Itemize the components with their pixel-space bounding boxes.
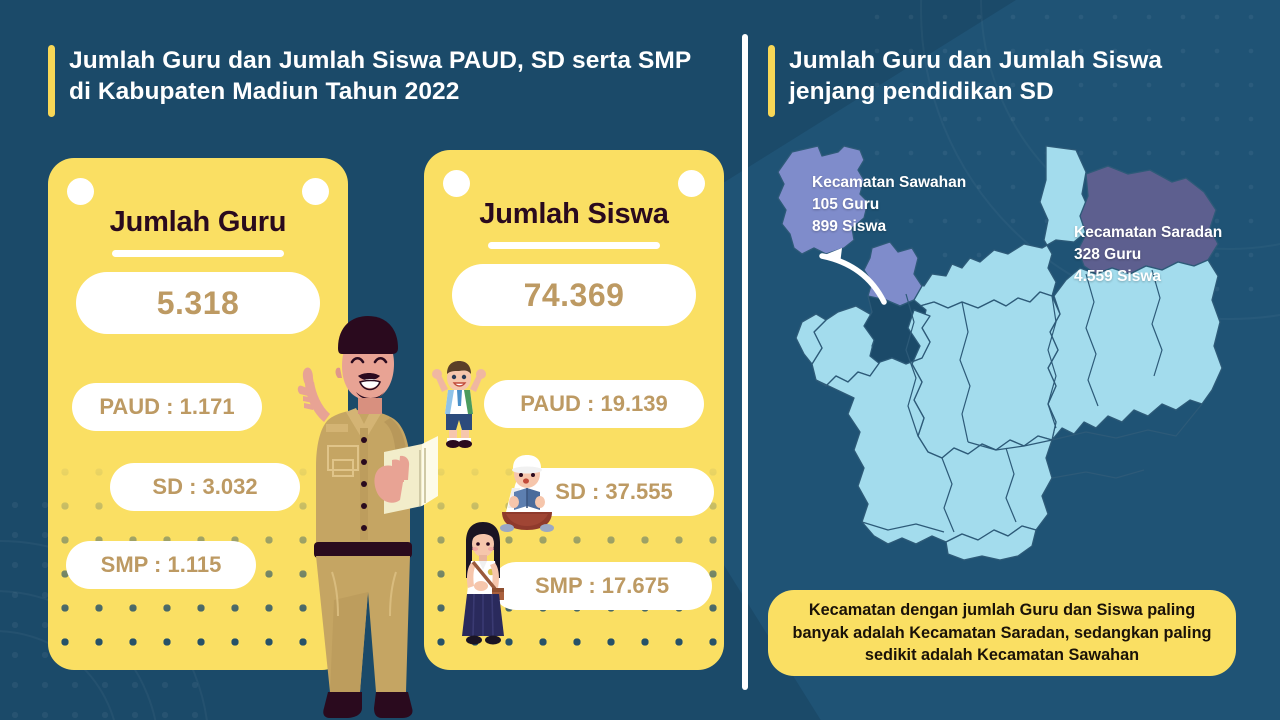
- title-accent-bar: [48, 45, 55, 117]
- callout-saradan-name: Kecamatan Saradan: [1074, 222, 1222, 244]
- right-panel-title: Jumlah Guru dan Jumlah Siswa jenjang pen…: [768, 45, 1238, 117]
- callout-sawahan-students: 899 Siswa: [812, 216, 966, 238]
- stat-pill-siswa-smp: SMP : 17.675: [492, 562, 712, 610]
- stat-pill-siswa-paud: PAUD : 19.139: [484, 380, 704, 428]
- card-notch-right-icon: [302, 178, 329, 205]
- stat-pill-guru-paud: PAUD : 1.171: [72, 383, 262, 431]
- right-title-text: Jumlah Guru dan Jumlah Siswa jenjang pen…: [789, 45, 1238, 108]
- student-smp-illustration: [452, 520, 514, 648]
- map-callout-sawahan: Kecamatan Sawahan 105 Guru 899 Siswa: [812, 172, 966, 238]
- card-title-siswa: Jumlah Siswa: [424, 198, 724, 231]
- title-accent-bar: [768, 45, 775, 117]
- callout-saradan-students: 4.559 Siswa: [1074, 266, 1222, 288]
- map-summary-caption: Kecamatan dengan jumlah Guru dan Siswa p…: [768, 590, 1236, 676]
- card-title-underline: [488, 242, 660, 249]
- card-notch-left-icon: [443, 170, 470, 197]
- card-title-underline: [112, 250, 284, 257]
- card-title-guru: Jumlah Guru: [48, 206, 348, 239]
- student-paud-illustration: [428, 358, 490, 448]
- callout-saradan-teachers: 328 Guru: [1074, 244, 1222, 266]
- stat-pill-guru-smp: SMP : 1.115: [66, 541, 256, 589]
- card-notch-left-icon: [67, 178, 94, 205]
- callout-sawahan-teachers: 105 Guru: [812, 194, 966, 216]
- left-title-text: Jumlah Guru dan Jumlah Siswa PAUD, SD se…: [69, 45, 708, 108]
- map-callout-saradan: Kecamatan Saradan 328 Guru 4.559 Siswa: [1074, 222, 1222, 288]
- card-total-siswa: 74.369: [452, 264, 696, 326]
- card-notch-right-icon: [678, 170, 705, 197]
- left-panel-title: Jumlah Guru dan Jumlah Siswa PAUD, SD se…: [48, 45, 708, 117]
- teacher-illustration: [272, 300, 452, 720]
- vertical-divider: [742, 34, 748, 690]
- callout-sawahan-name: Kecamatan Sawahan: [812, 172, 966, 194]
